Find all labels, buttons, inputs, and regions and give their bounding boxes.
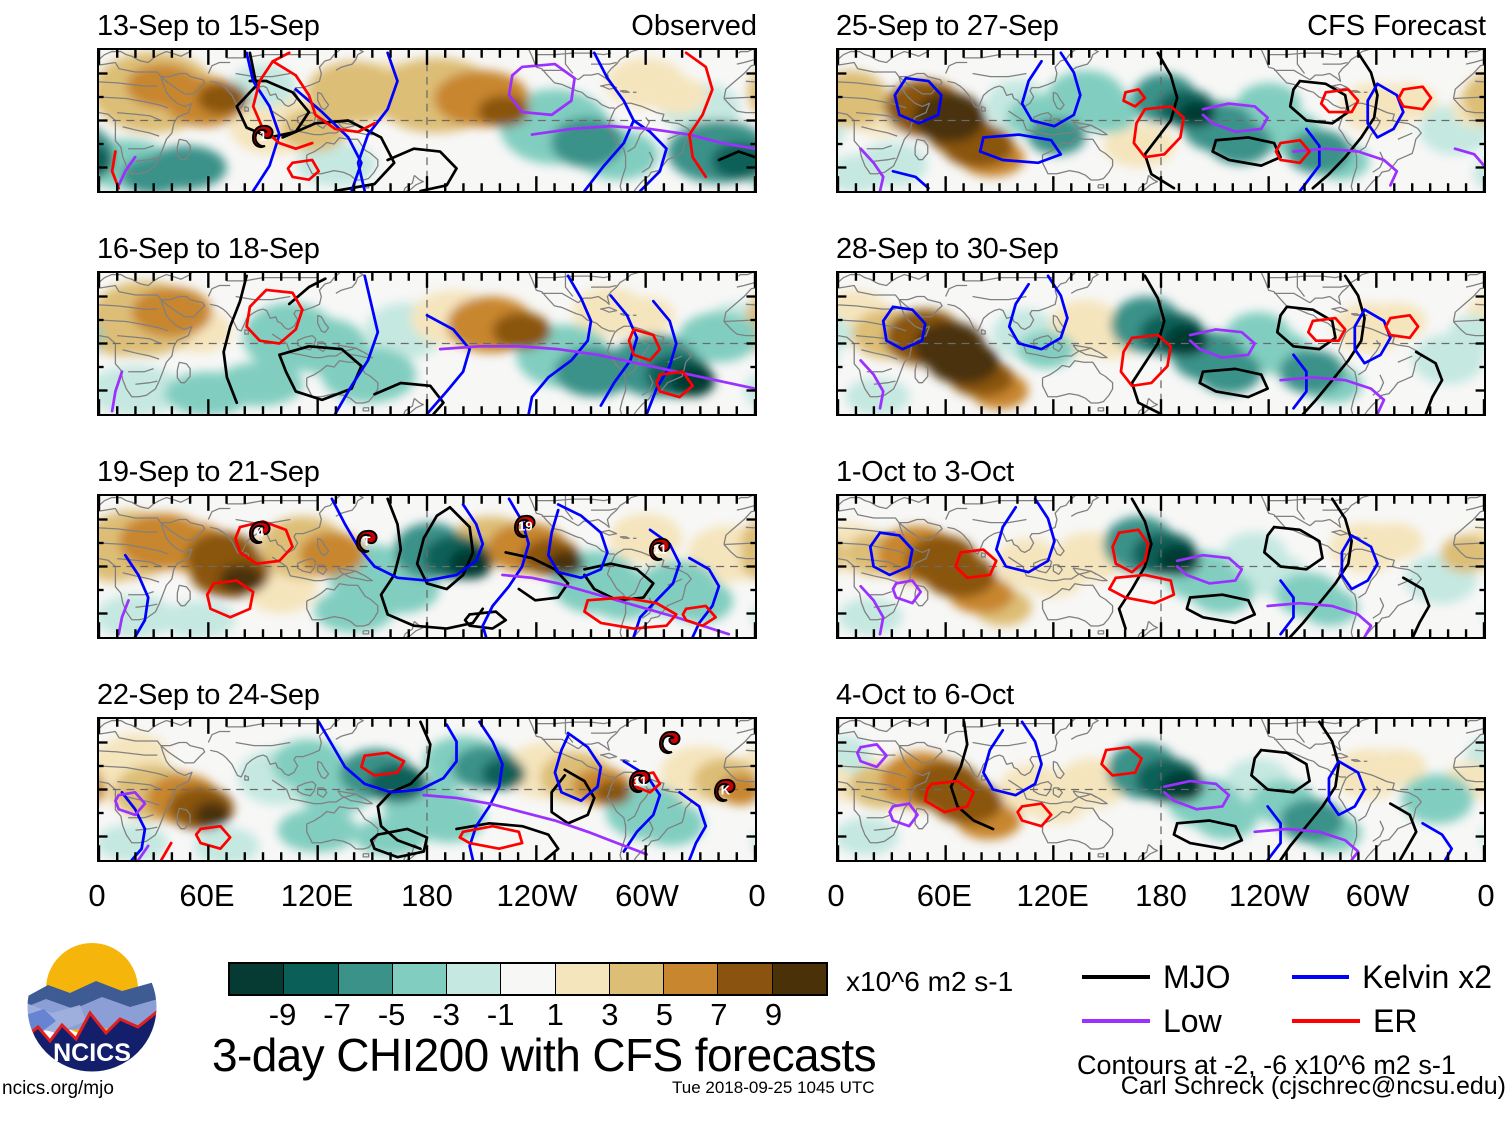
panel-title: 19-Sep to 21-Sep [97, 458, 320, 487]
legend-label: Kelvin x2 [1362, 961, 1492, 993]
panel-obs-2: 16-Sep to 18-Sep30N030S [97, 235, 757, 416]
colorbar-tick: 3 [601, 999, 618, 1030]
colorbar-tick: -7 [323, 999, 351, 1030]
map-fcst-3 [836, 494, 1486, 639]
legend-swatch-line [1292, 975, 1349, 979]
map-fcst-4 [836, 717, 1486, 862]
colorbar: -9-7-5-3-113579 [228, 962, 828, 1033]
panel-title: 16-Sep to 18-Sep [97, 235, 320, 264]
map-fcst-2 [836, 271, 1486, 416]
legend-swatch-line [1082, 975, 1150, 979]
legend-label: Low [1163, 1005, 1222, 1037]
colorbar-swatch [773, 964, 826, 994]
panel-title: 28-Sep to 30-Sep [836, 235, 1059, 264]
colorbar-tick: -5 [378, 999, 406, 1030]
figure-footer: NCICS ncics.org/mjo -9-7-5-3-113579 x10^… [0, 860, 1510, 1137]
panel-title: 1-Oct to 3-Oct [836, 458, 1014, 487]
column-header: CFS Forecast [1307, 12, 1486, 41]
axis-ticks [838, 273, 1484, 414]
colorbar-tick: -9 [269, 999, 297, 1030]
column-header: Observed [631, 12, 757, 41]
colorbar-tick: -1 [487, 999, 515, 1030]
axis-ticks [838, 50, 1484, 191]
panel-fcst-3: 1-Oct to 3-Oct [836, 458, 1486, 639]
legend-item-er: ER [1292, 1005, 1492, 1037]
timestamp: Tue 2018-09-25 1045 UTC [672, 1079, 875, 1096]
logo-wordmark: NCICS [53, 1039, 131, 1067]
map-fcst-1 [836, 48, 1486, 193]
panel-obs-3: 19-Sep to 21-Sep4T191130N030S [97, 458, 757, 639]
map-obs-4: L11K30N030S [97, 717, 757, 862]
colorbar-swatches [228, 962, 828, 996]
colorbar-swatch [284, 964, 338, 994]
colorbar-swatch [339, 964, 393, 994]
legend-item-low: Low [1082, 1005, 1292, 1037]
legend-item-mjo: MJO [1082, 961, 1292, 993]
axis-ticks [99, 719, 755, 860]
contour-legend: MJOKelvin x2LowER [1082, 955, 1492, 1043]
colorbar-tick: -3 [432, 999, 460, 1030]
panel-grid: 13-Sep to 15-SepObserved130N030S16-Sep t… [0, 0, 1510, 860]
colorbar-tick: 9 [765, 999, 782, 1030]
panel-obs-1: 13-Sep to 15-SepObserved130N030S [97, 12, 757, 193]
axis-ticks [838, 496, 1484, 637]
map-obs-3: 4T191130N030S [97, 494, 757, 639]
main-title: 3-day CHI200 with CFS forecasts [212, 1032, 876, 1078]
panel-title: 4-Oct to 6-Oct [836, 681, 1014, 710]
axis-ticks [99, 496, 755, 637]
panel-fcst-1: 25-Sep to 27-SepCFS Forecast [836, 12, 1486, 193]
panel-title: 13-Sep to 15-Sep [97, 12, 320, 41]
legend-swatch-line [1082, 1019, 1150, 1023]
legend-label: MJO [1163, 961, 1231, 993]
author-credit: Carl Schreck (cjschrec@ncsu.edu) [1121, 1074, 1506, 1099]
map-obs-2: 30N030S [97, 271, 757, 416]
panel-fcst-2: 28-Sep to 30-Sep [836, 235, 1486, 416]
panel-title: 25-Sep to 27-Sep [836, 12, 1059, 41]
panel-obs-4: 22-Sep to 24-SepL11K30N030S [97, 681, 757, 862]
panel-fcst-4: 4-Oct to 6-Oct [836, 681, 1486, 862]
axis-ticks [99, 50, 755, 191]
ncics-logo: NCICS [26, 941, 158, 1073]
colorbar-tick: 7 [710, 999, 727, 1030]
axis-ticks [99, 273, 755, 414]
colorbar-swatch [447, 964, 501, 994]
map-obs-1: 130N030S [97, 48, 757, 193]
colorbar-swatch [718, 964, 772, 994]
colorbar-swatch [556, 964, 610, 994]
legend-item-kelvin-x2: Kelvin x2 [1292, 961, 1492, 993]
colorbar-tick: 5 [656, 999, 673, 1030]
colorbar-swatch [664, 964, 718, 994]
colorbar-tick-labels: -9-7-5-3-113579 [228, 999, 828, 1033]
colorbar-tick: 1 [547, 999, 564, 1030]
legend-grid: MJOKelvin x2LowER [1082, 955, 1492, 1043]
logo-caption: ncics.org/mjo [2, 1079, 114, 1098]
legend-swatch-line [1292, 1019, 1360, 1023]
panel-title: 22-Sep to 24-Sep [97, 681, 320, 710]
colorbar-swatch [610, 964, 664, 994]
colorbar-swatch [501, 964, 555, 994]
colorbar-swatch [230, 964, 284, 994]
legend-label: ER [1373, 1005, 1417, 1037]
colorbar-units-label: x10^6 m2 s-1 [846, 968, 1013, 996]
colorbar-swatch [393, 964, 447, 994]
axis-ticks [838, 719, 1484, 860]
